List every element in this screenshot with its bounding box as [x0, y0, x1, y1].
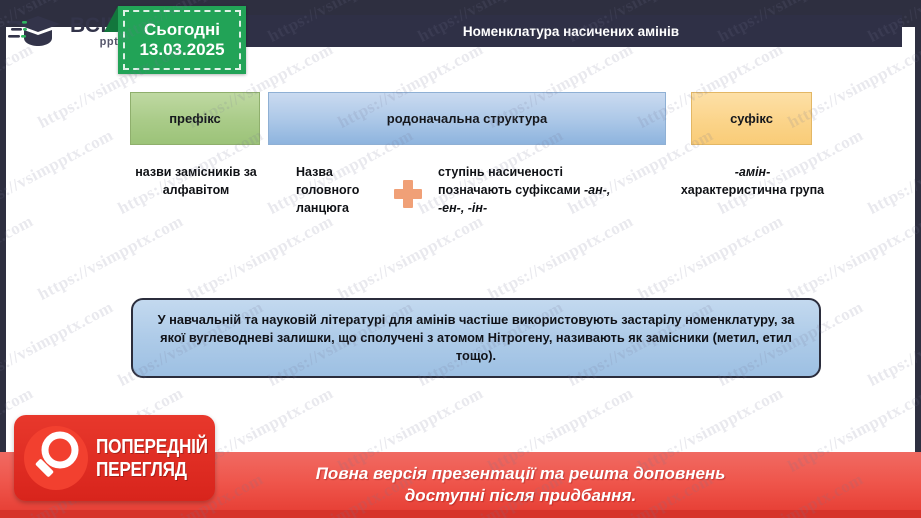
- plus-icon: [394, 180, 422, 208]
- today-date-value: 13.03.2025: [139, 40, 224, 60]
- preview-badge[interactable]: ПОПЕРЕДНІЙ ПЕРЕГЛЯД: [14, 415, 215, 501]
- description-suffix: -амін- характеристична група: [675, 164, 830, 200]
- description-suffix-amine: -амін-: [735, 165, 771, 179]
- note-text: У навчальній та науковій літературі для …: [147, 311, 805, 365]
- logo-sub-text: pptx: [70, 37, 125, 48]
- today-date-badge: Сьогодні 13.03.2025: [118, 6, 246, 74]
- part-box-root-label: родоначальна структура: [387, 111, 547, 126]
- note-callout-box: У навчальній та науковій літературі для …: [131, 298, 821, 378]
- page-title: Номенклатура насичених амінів: [463, 24, 679, 39]
- preview-badge-labels: ПОПЕРЕДНІЙ ПЕРЕГЛЯД: [96, 437, 226, 480]
- purchase-banner-line1: Повна версія презентації та решта доповн…: [316, 463, 726, 485]
- part-box-prefix-label: префікс: [169, 111, 221, 126]
- part-box-prefix: префікс: [130, 92, 260, 145]
- magnifier-icon: [24, 426, 88, 490]
- slide-title-bar: Номенклатура насичених амінів: [240, 15, 902, 47]
- today-label: Сьогодні: [144, 20, 220, 40]
- banner-bottom-edge: [0, 510, 921, 518]
- part-box-suffix: суфікс: [691, 92, 812, 145]
- slide-stage: ВСІМ pptx Сьогодні 13.03.2025 Номенклату…: [0, 0, 921, 518]
- purchase-banner-line2: доступні після придбання.: [316, 485, 726, 507]
- part-box-suffix-label: суфікс: [730, 111, 773, 126]
- preview-badge-line1: ПОПЕРЕДНІЙ: [96, 437, 208, 457]
- preview-badge-line2: ПЕРЕГЛЯД: [96, 460, 208, 480]
- description-saturation-text: ступінь насиченості позначають суфіксами: [438, 165, 581, 197]
- graduation-cap-icon: [8, 14, 64, 48]
- purchase-banner-text: Повна версія презентації та решта доповн…: [316, 463, 726, 507]
- part-box-root-structure: родоначальна структура: [268, 92, 666, 145]
- description-suffix-text: характеристична група: [681, 183, 824, 197]
- description-root-structure: Назва головного ланцюга: [296, 164, 390, 217]
- description-saturation: ступінь насиченості позначають суфіксами…: [438, 164, 638, 217]
- description-prefix: назви замісників за алфавітом: [112, 164, 280, 200]
